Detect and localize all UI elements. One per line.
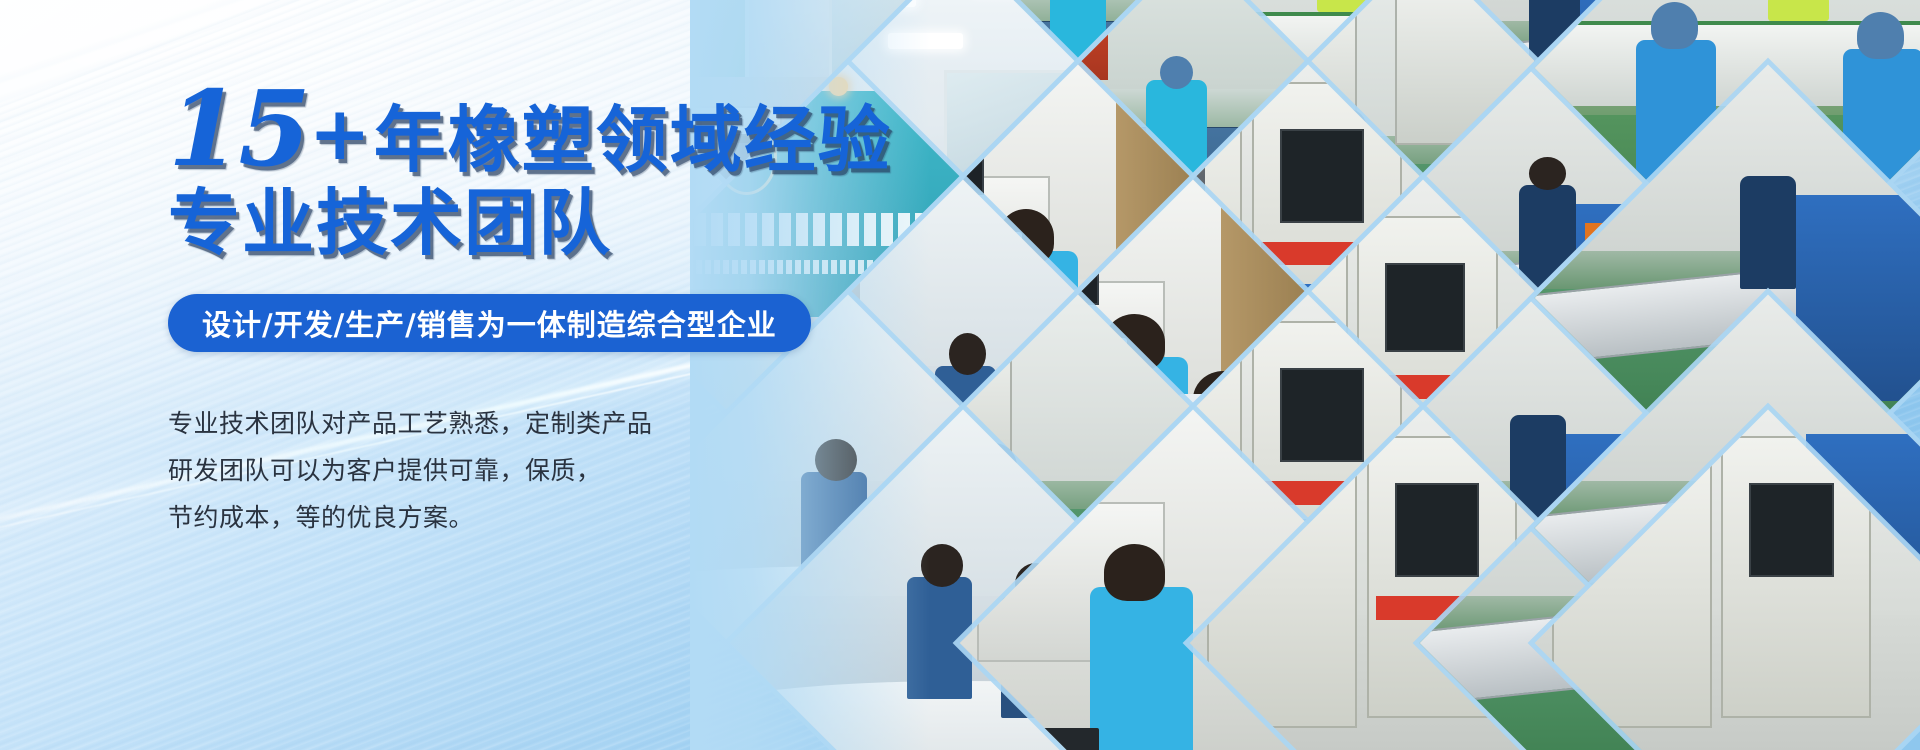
headline-line-2: 专业技术团队	[168, 180, 928, 272]
description-paragraph: 专业技术团队对产品工艺熟悉，定制类产品 研发团队可以为客户提供可靠，保质， 节约…	[168, 400, 928, 541]
description-line-2: 研发团队可以为客户提供可靠，保质，	[168, 447, 928, 494]
description-line-3: 节约成本，等的优良方案。	[168, 494, 928, 541]
description-line-1: 专业技术团队对产品工艺熟悉，定制类产品	[168, 400, 928, 447]
promo-banner: 15+年橡塑领域经验 专业技术团队 设计/开发/生产/销售为一体制造综合型企业 …	[0, 0, 1920, 750]
years-number: 15	[168, 67, 309, 190]
banner-content: 15+年橡塑领域经验 专业技术团队 设计/开发/生产/销售为一体制造综合型企业 …	[168, 86, 928, 541]
plus-sign: +	[309, 91, 372, 177]
services-badge-label: 设计/开发/生产/销售为一体制造综合型企业	[202, 302, 777, 344]
headline-line-2-text: 专业技术团队	[168, 181, 612, 265]
headline-line-1-text: 年橡塑领域经验	[374, 98, 892, 182]
headline-line-1: 15+年橡塑领域经验	[168, 86, 928, 178]
services-badge: 设计/开发/生产/销售为一体制造综合型企业	[168, 294, 811, 352]
